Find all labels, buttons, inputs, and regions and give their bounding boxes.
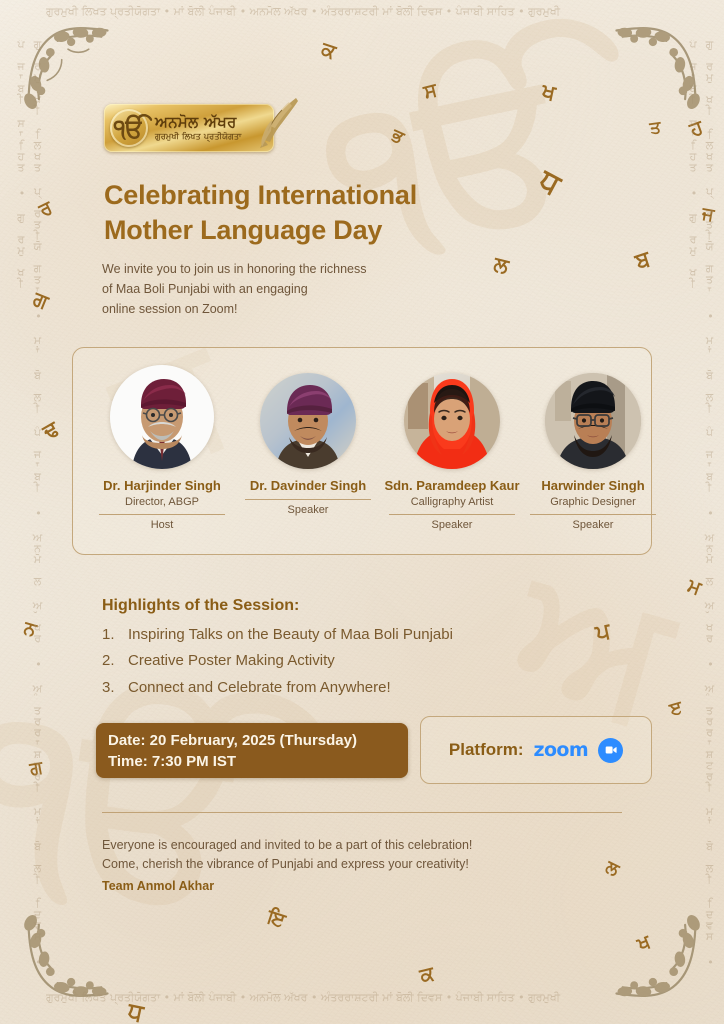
footer-divider [102,812,622,813]
edge-calligraphy-left: ਗੁਰਮੁਖੀ ਲਿਖਤ ਪ੍ਰਤੀਯੋਗਤਾ • ਮਾਂ ਬੋਲੀ ਪੰਜਾਬ… [6,40,46,984]
divider [389,514,515,515]
list-item-number: 1. [102,623,128,646]
intro-line-3: online session on Zoom! [102,300,522,320]
quill-pen-icon [242,96,304,152]
decor-glyph: ਇ [265,906,288,930]
title-line-1: Celebrating International [104,178,564,213]
list-item: 2. Creative Poster Making Activity [102,649,582,672]
event-time: Time: 7:30 PM IST [108,752,408,773]
avatar [404,373,500,469]
schedule-banner: Date: 20 February, 2025 (Thursday) Time:… [96,723,408,778]
speaker-card: Dr. Davinder Singh Speaker [228,373,388,517]
speaker-role: Calligraphy Artist [370,495,534,510]
edge-calligraphy-right: ਗੁਰਮੁਖੀ ਲਿਖਤ ਪ੍ਰਤੀਯੋਗਤਾ • ਮਾਂ ਬੋਲੀ ਪੰਜਾਬ… [678,40,718,984]
decor-glyph: ਹ [687,117,705,140]
decor-glyph: ਸ [422,81,439,102]
footer-line-2: Come, cherish the vibrance of Punjabi an… [102,855,622,874]
ik-onkar-seal-icon: ੴ [110,109,148,147]
speakers-list: Dr. Harjinder Singh Director, ABGP Host [72,347,652,555]
list-item-text: Inspiring Talks on the Beauty of Maa Bol… [128,623,582,646]
title-line-2: Mother Language Day [104,213,564,248]
intro-line-2: of Maa Boli Punjabi with an engaging [102,280,522,300]
speaker-tag: Host [82,519,242,532]
platform-box: Platform: zoom [420,716,652,784]
speaker-name: Dr. Davinder Singh [228,478,388,494]
speaker-tag: Speaker [370,519,534,532]
highlights-list: 1. Inspiring Talks on the Beauty of Maa … [102,620,582,699]
decor-glyph: ਭ [389,127,406,148]
avatar [260,373,356,469]
decor-glyph: ਨ [22,619,39,641]
decor-glyph: ਗ [29,759,44,779]
decor-glyph: ਤ [649,119,662,137]
list-item-number: 3. [102,676,128,699]
zoom-camera-icon [598,738,623,763]
intro-paragraph: We invite you to join us in honoring the… [102,260,522,319]
footer-line-1: Everyone is encouraged and invited to be… [102,836,622,855]
speaker-name: Harwinder Singh [514,478,672,494]
list-item: 3. Connect and Celebrate from Anywhere! [102,676,582,699]
decor-glyph: ਕ [319,38,338,61]
decor-glyph: ਖ [540,81,557,104]
decor-glyph: ਖ [635,932,653,954]
highlights-title: Highlights of the Session: [102,597,299,615]
speaker-tag: Speaker [228,504,388,517]
floral-corner-ornament-icon [604,902,708,1006]
floral-corner-ornament-icon [604,18,708,122]
avatar [545,373,641,469]
divider [245,499,371,500]
footer: Everyone is encouraged and invited to be… [102,836,622,896]
speaker-role: Director, ABGP [82,495,242,510]
poster-canvas: ੴ ੴ ਅ ਸ ਕ ਸ ਖ ਹ ਭ ਧ ਤ ਰ ਲ ਬ ਜ ਗ ਢ ਨ ਪ ਮ … [0,0,724,1024]
divider [99,514,225,515]
decor-glyph: ੲ [668,699,684,720]
decor-glyph: ਬ [633,248,653,273]
edge-calligraphy-bottom: ਗੁਰਮੁਖੀ ਲਿਖਤ ਪ੍ਰਤੀਯੋਗਤਾ • ਮਾਂ ਬੋਲੀ ਪੰਜਾਬ… [46,990,678,1020]
decor-glyph: ਗ [31,288,51,312]
list-item-number: 2. [102,649,128,672]
speaker-role: Graphic Designer [514,495,672,510]
decor-glyph: ਢ [40,418,62,443]
intro-line-1: We invite you to join us in honoring the… [102,260,522,280]
floral-corner-ornament-icon [16,902,120,1006]
avatar [110,365,214,469]
footer-team-name: Team Anmol Akhar [102,877,622,896]
speaker-card: Harwinder Singh Graphic Designer Speaker [514,373,672,533]
decor-glyph: ਜ [701,205,716,225]
brand-logo: ੴ ਅਨਮੋਲ ਅੱਖਰ ਗੁਰਮੁਖੀ ਲਿਖਤ ਪ੍ਰਤੀਯੋਗਤਾ [104,100,294,158]
platform-label: Platform: [449,740,524,760]
decor-glyph: ਰ [36,198,55,220]
edge-calligraphy-top: ਗੁਰਮੁਖੀ ਲਿਖਤ ਪ੍ਰਤੀਯੋਗਤਾ • ਮਾਂ ਬੋਲੀ ਪੰਜਾਬ… [46,4,678,34]
decor-glyph: ਕ [418,963,436,986]
watermark-glyph: ੴ [0,672,265,939]
decor-glyph: ਮ [685,576,703,598]
speaker-card: Sdn. Paramdeep Kaur Calligraphy Artist S… [370,373,534,533]
speaker-card: Dr. Harjinder Singh Director, ABGP Host [82,365,242,533]
speaker-name: Sdn. Paramdeep Kaur [370,478,534,494]
speaker-name: Dr. Harjinder Singh [82,478,242,494]
list-item-text: Connect and Celebrate from Anywhere! [128,676,582,699]
zoom-wordmark: zoom [534,739,589,761]
logo-brand-name: ਅਨਮੋਲ ਅੱਖਰ [155,115,242,131]
page-title: Celebrating International Mother Languag… [104,178,564,247]
event-date: Date: 20 February, 2025 (Thursday) [108,731,408,752]
list-item: 1. Inspiring Talks on the Beauty of Maa … [102,623,582,646]
list-item-text: Creative Poster Making Activity [128,649,582,672]
decor-glyph: ਪ [594,621,612,645]
divider [530,514,656,515]
decor-glyph: ਧ [126,999,146,1024]
logo-brand-subtitle: ਗੁਰਮੁਖੀ ਲਿਖਤ ਪ੍ਰਤੀਯੋਗਤਾ [155,132,242,142]
speaker-tag: Speaker [514,519,672,532]
